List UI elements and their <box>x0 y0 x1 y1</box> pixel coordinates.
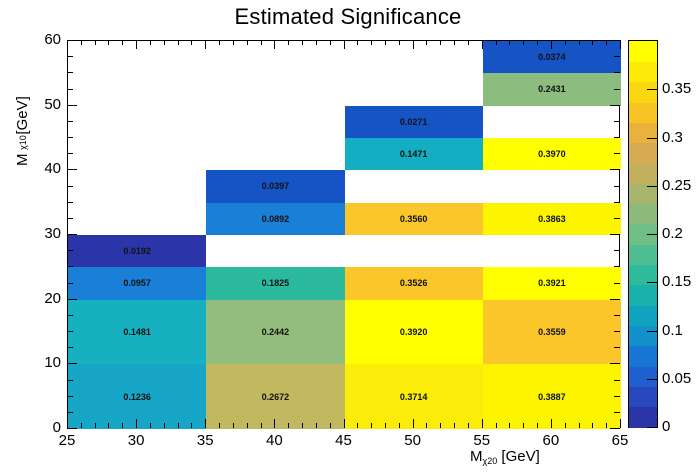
y-axis-tick-label: 0 <box>25 419 61 436</box>
x-axis-minor-tick-top <box>371 40 372 45</box>
heatmap-cell-value: 0.3560 <box>345 214 483 224</box>
heatmap-cell-value: 0.2672 <box>206 392 344 402</box>
y-axis-tick-label: 20 <box>25 290 61 307</box>
x-axis-minor-tick-top <box>122 40 123 45</box>
colorbar-tick <box>647 89 658 90</box>
x-axis-minor-tick <box>537 423 538 428</box>
heatmap-cell[interactable]: 0.2442 <box>206 300 344 365</box>
y-axis-tick-right <box>610 234 620 235</box>
heatmap-cell[interactable]: 0.3921 <box>483 267 621 299</box>
colorbar-segment <box>629 61 657 82</box>
x-axis-tick-label: 45 <box>328 432 360 449</box>
heatmap-cell[interactable]: 0.3560 <box>345 203 483 235</box>
y-axis-minor-tick-right <box>614 331 620 332</box>
y-axis-minor-tick <box>67 153 73 154</box>
heatmap-cell-value: 0.2431 <box>483 84 621 94</box>
y-axis-minor-tick <box>67 202 73 203</box>
y-axis-tick-right <box>610 105 620 106</box>
heatmap-cell-value: 0.0271 <box>345 117 483 127</box>
x-axis-tick-top <box>136 40 137 49</box>
x-axis-minor-tick-top <box>164 40 165 45</box>
heatmap-cell[interactable]: 0.3970 <box>483 138 621 170</box>
x-axis-minor-tick-top <box>219 40 220 45</box>
x-axis-tick-top <box>413 40 414 49</box>
colorbar-tick-label: 0.05 <box>662 370 691 387</box>
x-axis-tick-label: 30 <box>120 432 152 449</box>
x-axis-minor-tick-top <box>579 40 580 45</box>
y-axis-minor-tick <box>67 331 73 332</box>
colorbar-segment <box>629 244 657 265</box>
colorbar-tick <box>647 138 658 139</box>
x-axis-tick-top <box>67 40 68 49</box>
colorbar-segment <box>629 82 657 103</box>
heatmap-cell[interactable]: 0.3863 <box>483 203 621 235</box>
x-axis-minor-tick <box>523 423 524 428</box>
heatmap-cell-value: 0.3920 <box>345 327 483 337</box>
chart-title: Estimated Significance <box>0 4 696 30</box>
x-axis-minor-tick <box>191 423 192 428</box>
heatmap-cell-value: 0.0374 <box>483 52 621 62</box>
y-axis-minor-tick <box>67 137 73 138</box>
colorbar-tick <box>647 379 658 380</box>
y-axis-tick <box>67 169 77 170</box>
colorbar-segment <box>629 163 657 184</box>
x-axis-minor-tick <box>385 423 386 428</box>
x-axis-tick <box>136 419 137 428</box>
x-axis-minor-tick <box>606 423 607 428</box>
x-axis-minor-tick-top <box>606 40 607 45</box>
y-axis-tick-label: 10 <box>25 354 61 371</box>
y-axis-minor-tick <box>67 72 73 73</box>
x-axis-minor-tick-top <box>454 40 455 45</box>
y-axis-minor-tick <box>67 56 73 57</box>
x-axis-tick-top <box>344 40 345 49</box>
y-axis-tick <box>67 40 77 41</box>
y-axis-minor-tick-right <box>614 250 620 251</box>
y-axis-tick-right <box>610 299 620 300</box>
x-axis-minor-tick <box>454 423 455 428</box>
x-axis-tick-top <box>620 40 621 49</box>
y-axis-minor-tick-right <box>614 380 620 381</box>
x-axis-minor-tick-top <box>316 40 317 45</box>
colorbar-tick <box>647 331 658 332</box>
colorbar-segment <box>629 122 657 143</box>
y-axis-minor-tick-right <box>614 412 620 413</box>
heatmap-cell-value: 0.0192 <box>68 246 206 256</box>
x-axis-minor-tick-top <box>509 40 510 45</box>
y-axis-minor-tick-right <box>614 153 620 154</box>
y-axis-minor-tick-right <box>614 266 620 267</box>
x-axis-minor-tick-top <box>95 40 96 45</box>
y-axis-tick <box>67 428 77 429</box>
heatmap-cell-value: 0.3921 <box>483 278 621 288</box>
y-axis-tick-right <box>610 428 620 429</box>
x-axis-minor-tick-top <box>537 40 538 45</box>
x-axis-minor-tick-top <box>496 40 497 45</box>
colorbar-segment <box>629 366 657 387</box>
colorbar-tick-label: 0.25 <box>662 177 691 194</box>
x-axis-minor-tick-top <box>468 40 469 45</box>
colorbar-segment <box>629 386 657 407</box>
x-axis-minor-tick-top <box>426 40 427 45</box>
x-axis-tick-label: 60 <box>535 432 567 449</box>
heatmap-cell-value: 0.3863 <box>483 214 621 224</box>
x-axis-minor-tick <box>357 423 358 428</box>
y-axis-minor-tick <box>67 218 73 219</box>
heatmap-cell[interactable]: 0.3559 <box>483 300 621 365</box>
y-axis-minor-tick-right <box>614 218 620 219</box>
x-axis-minor-tick <box>95 423 96 428</box>
x-axis-title: Mχ20 [GeV] <box>470 448 540 465</box>
colorbar-segment <box>629 407 657 428</box>
x-axis-tick-label: 50 <box>397 432 429 449</box>
x-axis-minor-tick-top <box>330 40 331 45</box>
y-axis-minor-tick <box>67 412 73 413</box>
x-axis-minor-tick <box>261 423 262 428</box>
x-axis-tick <box>274 419 275 428</box>
colorbar-segment <box>629 204 657 225</box>
heatmap-cell[interactable]: 0.2672 <box>206 364 344 429</box>
x-axis-minor-tick-top <box>247 40 248 45</box>
heatmap-cell-value: 0.3887 <box>483 392 621 402</box>
heatmap-cell-value: 0.1825 <box>206 278 344 288</box>
heatmap-cell[interactable]: 0.0957 <box>68 267 206 299</box>
heatmap-plot-area[interactable]: 0.12360.14810.09570.01920.26720.24420.18… <box>67 40 620 428</box>
colorbar-segment <box>629 325 657 346</box>
heatmap-cell[interactable]: 0.1471 <box>345 138 483 170</box>
y-axis-minor-tick <box>67 89 73 90</box>
colorbar-segment <box>629 305 657 326</box>
colorbar-segment <box>629 285 657 306</box>
y-axis-minor-tick-right <box>614 137 620 138</box>
x-axis-tick-top <box>274 40 275 49</box>
x-axis-tick-top <box>205 40 206 49</box>
x-axis-tick <box>205 419 206 428</box>
y-axis-minor-tick <box>67 250 73 251</box>
x-axis-minor-tick-top <box>233 40 234 45</box>
x-axis-tick <box>482 419 483 428</box>
heatmap-cell-value: 0.0957 <box>68 278 206 288</box>
heatmap-cell[interactable]: 0.3920 <box>345 300 483 365</box>
x-axis-minor-tick-top <box>565 40 566 45</box>
y-axis-minor-tick <box>67 396 73 397</box>
y-axis-tick <box>67 105 77 106</box>
heatmap-cell-value: 0.0892 <box>206 214 344 224</box>
x-axis-tick <box>620 419 621 428</box>
y-axis-minor-tick-right <box>614 121 620 122</box>
heatmap-cell[interactable]: 0.2431 <box>483 73 621 105</box>
heatmap-cell[interactable]: 0.3526 <box>345 267 483 299</box>
colorbar-tick-label: 0.1 <box>662 322 683 339</box>
x-axis-minor-tick <box>81 423 82 428</box>
colorbar-tick <box>647 427 658 428</box>
colorbar-tick <box>647 282 658 283</box>
heatmap-cell[interactable]: 0.1481 <box>68 300 206 365</box>
colorbar-tick-label: 0.3 <box>662 129 683 146</box>
heatmap-cell[interactable]: 0.0397 <box>206 170 344 202</box>
x-axis-minor-tick-top <box>385 40 386 45</box>
x-axis-minor-tick <box>468 423 469 428</box>
x-axis-minor-tick-top <box>261 40 262 45</box>
x-axis-tick-top <box>482 40 483 49</box>
heatmap-cell[interactable]: 0.3887 <box>483 364 621 429</box>
colorbar-tick-label: 0.35 <box>662 80 691 97</box>
y-axis-tick-right <box>610 363 620 364</box>
x-axis-minor-tick <box>219 423 220 428</box>
heatmap-cell-value: 0.3970 <box>483 149 621 159</box>
y-axis-minor-tick <box>67 266 73 267</box>
y-axis-minor-tick <box>67 315 73 316</box>
y-axis-tick <box>67 363 77 364</box>
heatmap-cell[interactable]: 0.0192 <box>68 235 206 267</box>
x-axis-minor-tick <box>164 423 165 428</box>
x-axis-minor-tick <box>509 423 510 428</box>
colorbar-tick <box>647 234 658 235</box>
heatmap-cell-value: 0.1471 <box>345 149 483 159</box>
x-axis-tick <box>413 419 414 428</box>
y-axis-tick <box>67 234 77 235</box>
x-axis-minor-tick <box>579 423 580 428</box>
x-axis-minor-tick <box>440 423 441 428</box>
colorbar-tick-label: 0.2 <box>662 225 683 242</box>
colorbar-segment <box>629 143 657 164</box>
y-axis-minor-tick-right <box>614 283 620 284</box>
x-axis-minor-tick <box>233 423 234 428</box>
x-axis-minor-tick <box>122 423 123 428</box>
colorbar-tick <box>647 186 658 187</box>
x-axis-minor-tick <box>247 423 248 428</box>
colorbar-tick-label: 0 <box>662 418 670 435</box>
heatmap-cell[interactable]: 0.1236 <box>68 364 206 429</box>
heatmap-cell-value: 0.2442 <box>206 327 344 337</box>
x-axis-minor-tick-top <box>357 40 358 45</box>
x-axis-minor-tick-top <box>440 40 441 45</box>
colorbar-tick-label: 0.15 <box>662 273 691 290</box>
x-axis-minor-tick-top <box>302 40 303 45</box>
heatmap-cell-value: 0.3526 <box>345 278 483 288</box>
x-axis-tick <box>67 419 68 428</box>
colorbar-segment <box>629 346 657 367</box>
x-axis-minor-tick <box>496 423 497 428</box>
y-axis-minor-tick <box>67 380 73 381</box>
heatmap-cell[interactable]: 0.0271 <box>345 106 483 138</box>
y-axis-minor-tick <box>67 186 73 187</box>
heatmap-cell[interactable]: 0.0892 <box>206 203 344 235</box>
x-axis-minor-tick <box>150 423 151 428</box>
figure-canvas: Estimated Significance 0.12360.14810.095… <box>0 0 696 472</box>
x-axis-minor-tick-top <box>288 40 289 45</box>
x-axis-minor-tick-top <box>81 40 82 45</box>
x-axis-minor-tick <box>426 423 427 428</box>
y-axis-minor-tick <box>67 347 73 348</box>
heatmap-cell-value: 0.1481 <box>68 327 206 337</box>
y-axis-tick-right <box>610 169 620 170</box>
colorbar-segment <box>629 102 657 123</box>
x-axis-minor-tick <box>565 423 566 428</box>
x-axis-minor-tick-top <box>108 40 109 45</box>
y-axis-minor-tick-right <box>614 56 620 57</box>
heatmap-cell-value: 0.3559 <box>483 327 621 337</box>
x-axis-minor-tick <box>316 423 317 428</box>
heatmap-cell-value: 0.1236 <box>68 392 206 402</box>
x-axis-minor-tick <box>330 423 331 428</box>
y-axis-minor-tick-right <box>614 186 620 187</box>
x-axis-minor-tick <box>371 423 372 428</box>
x-axis-minor-tick <box>108 423 109 428</box>
heatmap-cell[interactable]: 0.1825 <box>206 267 344 299</box>
y-axis-minor-tick <box>67 283 73 284</box>
y-axis-minor-tick-right <box>614 72 620 73</box>
x-axis-tick-label: 40 <box>258 432 290 449</box>
heatmap-cell[interactable]: 0.3714 <box>345 364 483 429</box>
y-axis-minor-tick <box>67 121 73 122</box>
x-axis-tick <box>344 419 345 428</box>
y-axis-minor-tick-right <box>614 89 620 90</box>
y-axis-minor-tick-right <box>614 347 620 348</box>
x-axis-minor-tick-top <box>178 40 179 45</box>
x-axis-minor-tick-top <box>592 40 593 45</box>
x-axis-minor-tick-top <box>150 40 151 45</box>
x-axis-minor-tick <box>288 423 289 428</box>
x-axis-tick-top <box>551 40 552 49</box>
y-axis-tick <box>67 299 77 300</box>
x-axis-tick <box>551 419 552 428</box>
x-axis-minor-tick-top <box>191 40 192 45</box>
y-axis-minor-tick-right <box>614 396 620 397</box>
colorbar-segment <box>629 41 657 62</box>
y-axis-title: Mχ10 [GeV] <box>14 46 34 166</box>
heatmap-cell[interactable]: 0.0374 <box>483 41 621 73</box>
heatmap-cell-value: 0.3714 <box>345 392 483 402</box>
x-axis-minor-tick <box>302 423 303 428</box>
y-axis-tick-right <box>610 40 620 41</box>
x-axis-minor-tick-top <box>399 40 400 45</box>
x-axis-tick-label: 65 <box>604 432 636 449</box>
x-axis-tick-label: 35 <box>189 432 221 449</box>
x-axis-minor-tick <box>178 423 179 428</box>
x-axis-tick-label: 55 <box>466 432 498 449</box>
y-axis-tick-label: 30 <box>25 225 61 242</box>
heatmap-cell-value: 0.0397 <box>206 181 344 191</box>
y-axis-minor-tick-right <box>614 315 620 316</box>
x-axis-minor-tick <box>399 423 400 428</box>
y-axis-minor-tick-right <box>614 202 620 203</box>
heatmap-cells: 0.12360.14810.09570.01920.26720.24420.18… <box>68 41 619 427</box>
x-axis-minor-tick-top <box>523 40 524 45</box>
x-axis-minor-tick <box>592 423 593 428</box>
